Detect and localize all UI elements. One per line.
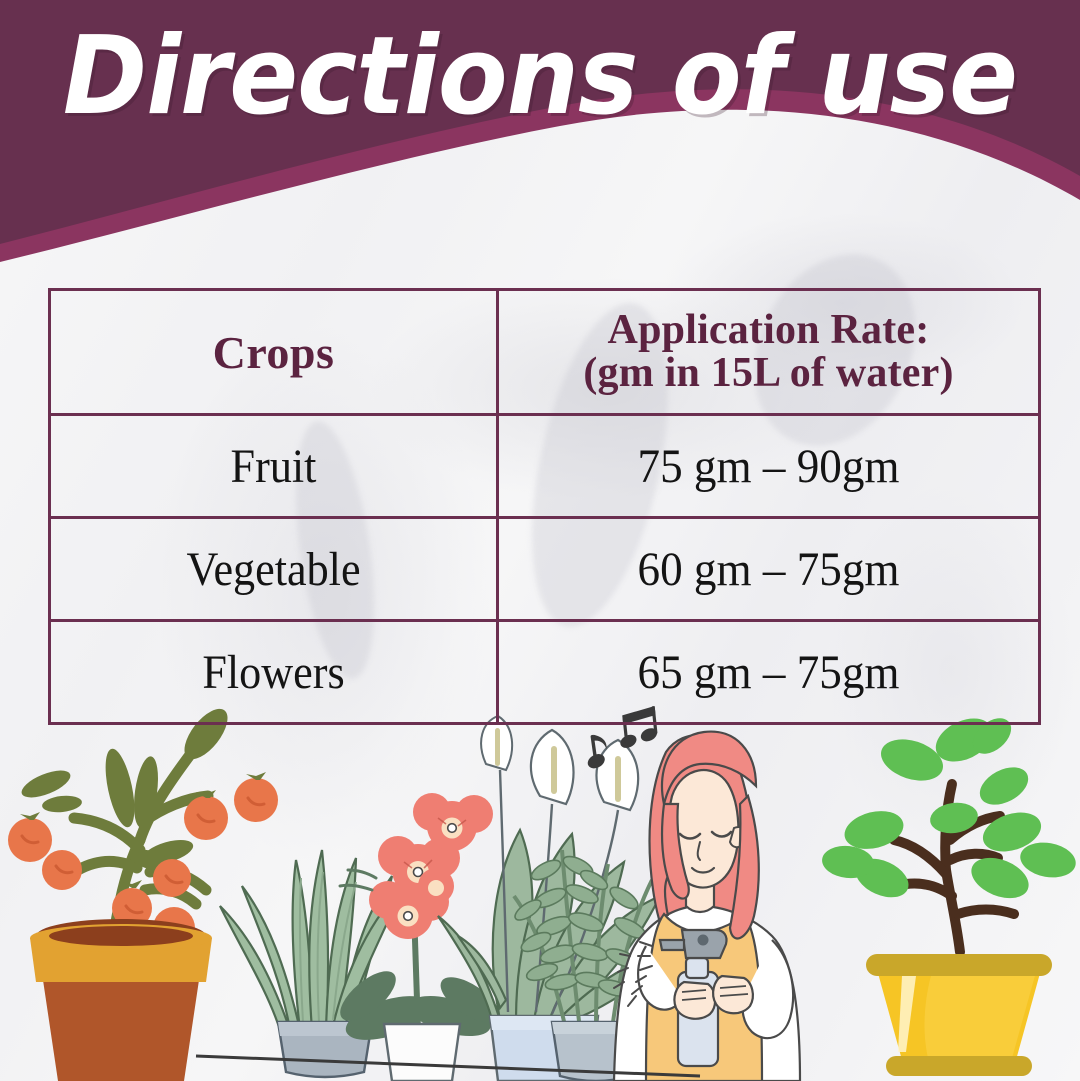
table-cell-rate: 75 gm – 90gm xyxy=(498,415,1040,518)
application-rate-table: Crops Application Rate: (gm in 15L of wa… xyxy=(48,288,1041,725)
pot-soil-inner xyxy=(49,926,193,946)
rate-value: 65 gm – 75gm xyxy=(515,645,1022,700)
rate-value: 75 gm – 90gm xyxy=(515,439,1022,494)
table-cell-crop: Vegetable xyxy=(50,518,498,621)
bottle-cap-dot xyxy=(698,935,709,946)
crop-name: Flowers xyxy=(69,645,478,700)
illustration-svg xyxy=(0,700,1080,1081)
tomato-leaves xyxy=(18,702,235,875)
orchid-flower xyxy=(418,868,454,904)
column-header-rate-line2: (gm in 15L of water) xyxy=(499,352,1038,395)
table-cell-crop: Fruit xyxy=(50,415,498,518)
illustration xyxy=(0,700,1080,1081)
table-header-row: Crops Application Rate: (gm in 15L of wa… xyxy=(50,290,1040,415)
pink-orchid-in-white-pot xyxy=(332,793,506,1081)
orchid-flowers xyxy=(369,793,493,939)
page-title: Directions of use xyxy=(32,14,1047,139)
yellow-pot-base xyxy=(886,1056,1032,1076)
crop-name: Fruit xyxy=(69,439,478,494)
tomato-plant-in-terracotta-pot xyxy=(8,702,278,1081)
directions-of-use-infographic: Directions of use Crops Application Rate… xyxy=(0,0,1080,1081)
table-row: Flowers 65 gm – 75gm xyxy=(50,621,1040,724)
bottle-nozzle xyxy=(660,940,684,950)
orchid-flower xyxy=(413,793,493,851)
table-cell-rate: 65 gm – 75gm xyxy=(498,621,1040,724)
yellow-pot-rim xyxy=(866,954,1052,976)
sapling-in-yellow-pot xyxy=(820,710,1078,1076)
column-header-rate-line1: Application Rate: xyxy=(499,309,1038,352)
rate-value: 60 gm – 75gm xyxy=(515,542,1022,597)
white-pot xyxy=(384,1024,460,1081)
peace-lily-spathes xyxy=(481,716,638,810)
header-band: Directions of use xyxy=(0,0,1080,280)
table-row: Vegetable 60 gm – 75gm xyxy=(50,518,1040,621)
table-header-cell-crops: Crops xyxy=(50,290,498,415)
table-cell-crop: Flowers xyxy=(50,621,498,724)
left-hand xyxy=(674,982,715,1019)
table-row: Fruit 75 gm – 90gm xyxy=(50,415,1040,518)
aloe-snake-plant-in-grey-pot xyxy=(220,850,404,1077)
crop-name: Vegetable xyxy=(69,542,478,597)
table-cell-rate: 60 gm – 75gm xyxy=(498,518,1040,621)
table-header-cell-rate: Application Rate: (gm in 15L of water) xyxy=(498,290,1040,415)
bottle-neck xyxy=(686,958,708,978)
column-header-crops: Crops xyxy=(51,326,496,379)
